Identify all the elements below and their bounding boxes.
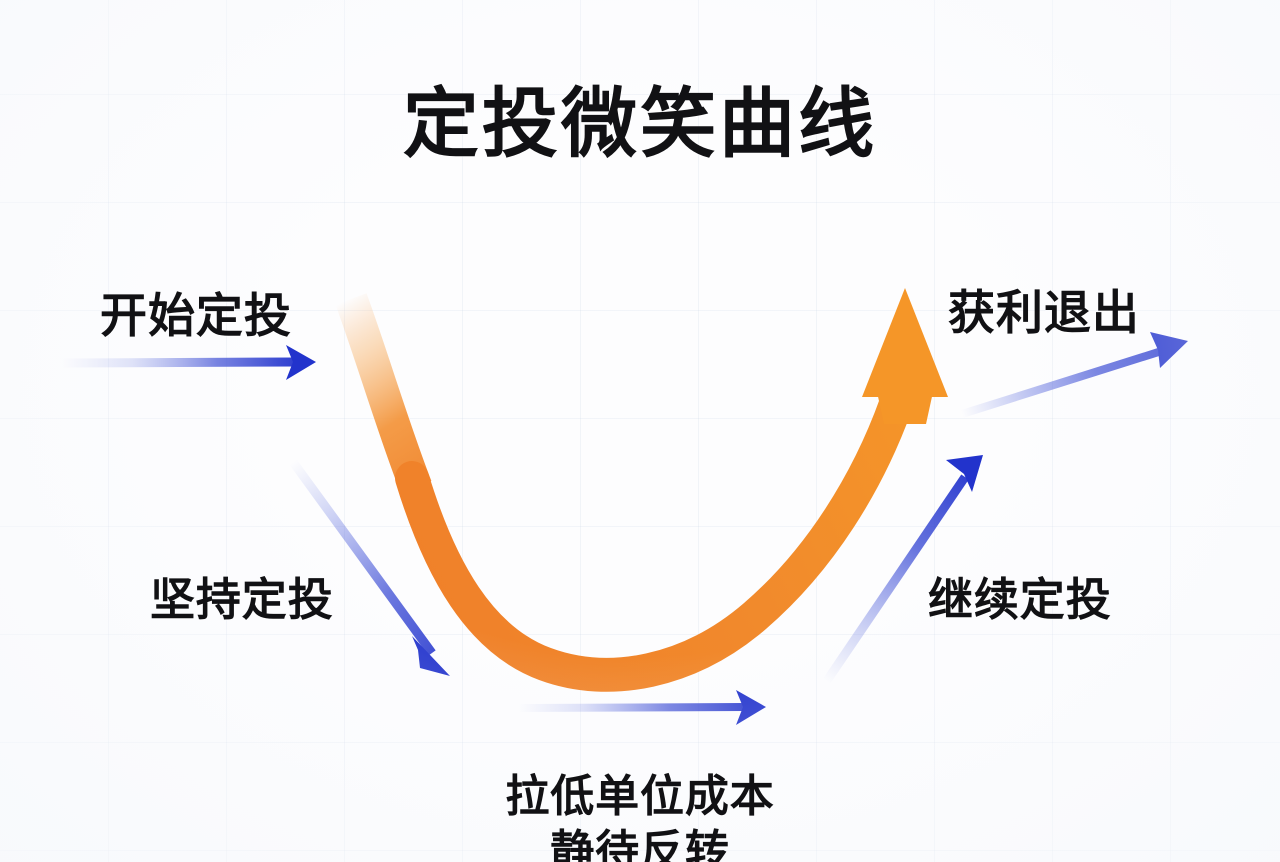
arrowhead-up-right-icon <box>946 455 983 492</box>
curve-arrowhead-icon <box>862 288 948 397</box>
label-cost-line-2: 静待反转 <box>0 824 1280 862</box>
label-lower-unit-cost: 拉低单位成本 静待反转 <box>0 769 1280 862</box>
diagram-canvas: 定投微笑曲线 开始定投 获利退出 坚持定投 继续定投 拉低单位成本 静待反转 <box>0 0 1280 862</box>
label-persist-investing: 坚持定投 <box>150 563 334 628</box>
exit-arrow <box>962 332 1188 414</box>
start-arrow <box>62 345 316 380</box>
arrowhead-down-right-icon <box>412 636 450 676</box>
page-title: 定投微笑曲线 <box>0 86 1280 162</box>
smile-curve-orange <box>351 288 948 675</box>
label-start-investing: 开始定投 <box>100 277 292 346</box>
label-cost-line-1: 拉低单位成本 <box>0 769 1280 824</box>
label-continue-investing: 继续定投 <box>928 563 1112 628</box>
label-profit-exit: 获利退出 <box>948 274 1140 343</box>
cost-arrow <box>518 690 766 725</box>
